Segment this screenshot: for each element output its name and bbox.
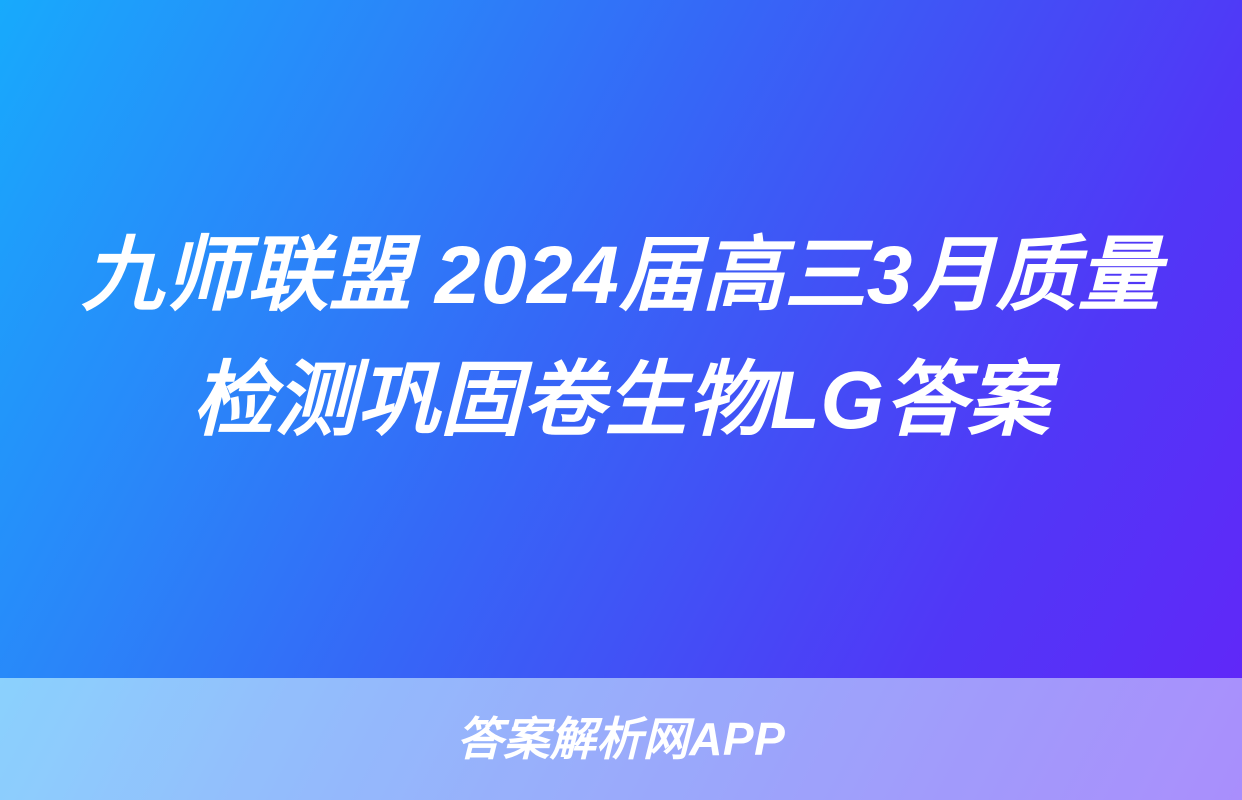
hero-banner: 九师联盟 2024届高三3月质量检测巩固卷生物LG答案: [0, 0, 1242, 678]
share-card: 九师联盟 2024届高三3月质量检测巩固卷生物LG答案 答案解析网APP: [0, 0, 1242, 800]
page-title: 九师联盟 2024届高三3月质量检测巩固卷生物LG答案: [72, 214, 1170, 463]
watermark-text: 答案解析网APP: [457, 716, 786, 762]
footer-watermark-bar: 答案解析网APP: [0, 678, 1242, 800]
